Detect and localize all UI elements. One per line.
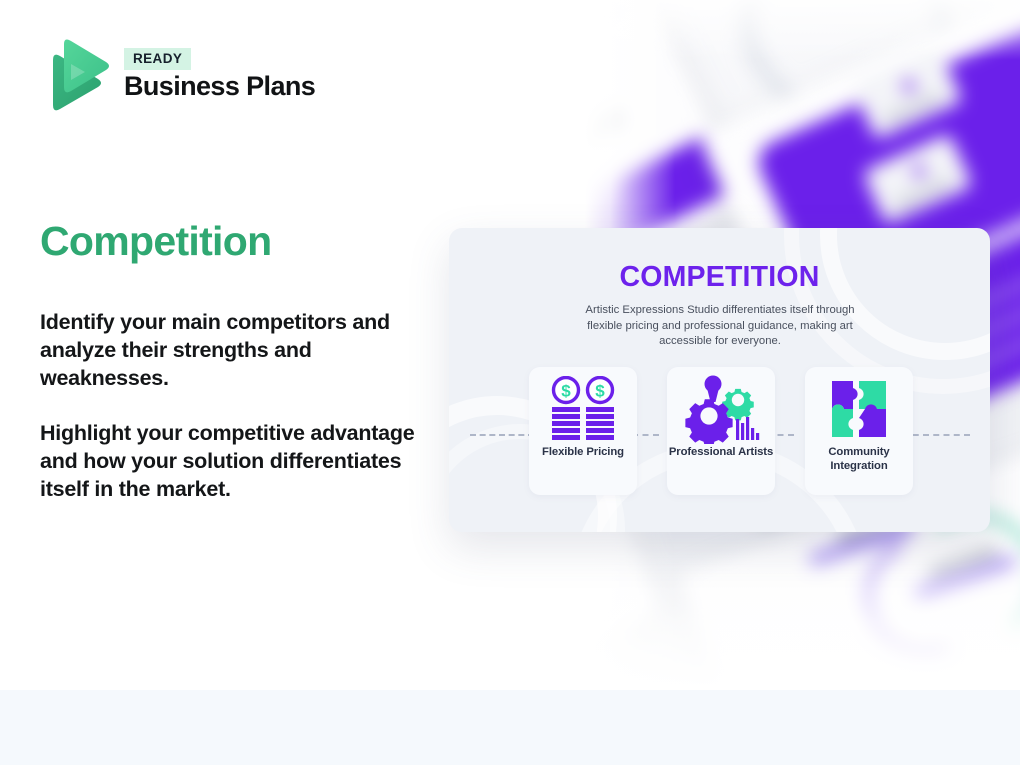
brand-lockup-text: READY Business Plans: [124, 48, 315, 102]
brand-name: Business Plans: [124, 72, 315, 102]
ready-badge: READY: [124, 48, 191, 70]
feature-card-community-integration[interactable]: Community Integration: [805, 367, 913, 495]
slide-title: COMPETITION: [449, 261, 990, 294]
feature-label: Professional Artists: [669, 445, 773, 459]
body-paragraph-1: Identify your main competitors and analy…: [40, 308, 430, 392]
gears-lightbulb-icon: [682, 367, 760, 445]
bottom-strip: [0, 690, 1020, 765]
play-logo-icon: [40, 38, 110, 112]
svg-text:$: $: [561, 382, 571, 401]
page-title: Competition: [40, 218, 271, 265]
slide-page: READY Business Plans Competition Identif…: [0, 0, 1020, 765]
brand-logo: READY Business Plans: [40, 38, 315, 112]
feature-card-flexible-pricing[interactable]: $ $: [529, 367, 637, 495]
body-paragraph-2: Highlight your competitive advantage and…: [40, 419, 430, 503]
slide-preview-card[interactable]: COMPETITION Artistic Expressions Studio …: [449, 228, 990, 532]
connector-dashed-line: [470, 434, 534, 436]
svg-text:$: $: [595, 382, 605, 401]
feature-label: Flexible Pricing: [542, 445, 624, 459]
background-dot: [913, 165, 925, 177]
slide-subtitle: Artistic Expressions Studio differentiat…: [569, 303, 871, 350]
puzzle-pieces-icon: [826, 367, 892, 445]
background-fade-bottom: [585, 540, 1020, 690]
background-dot: [903, 80, 915, 92]
coin-stacks-icon: $ $: [545, 367, 621, 445]
feature-card-professional-artists[interactable]: Professional Artists: [667, 367, 775, 495]
feature-card-row: $ $: [529, 367, 913, 495]
feature-label: Community Integration: [805, 445, 913, 473]
